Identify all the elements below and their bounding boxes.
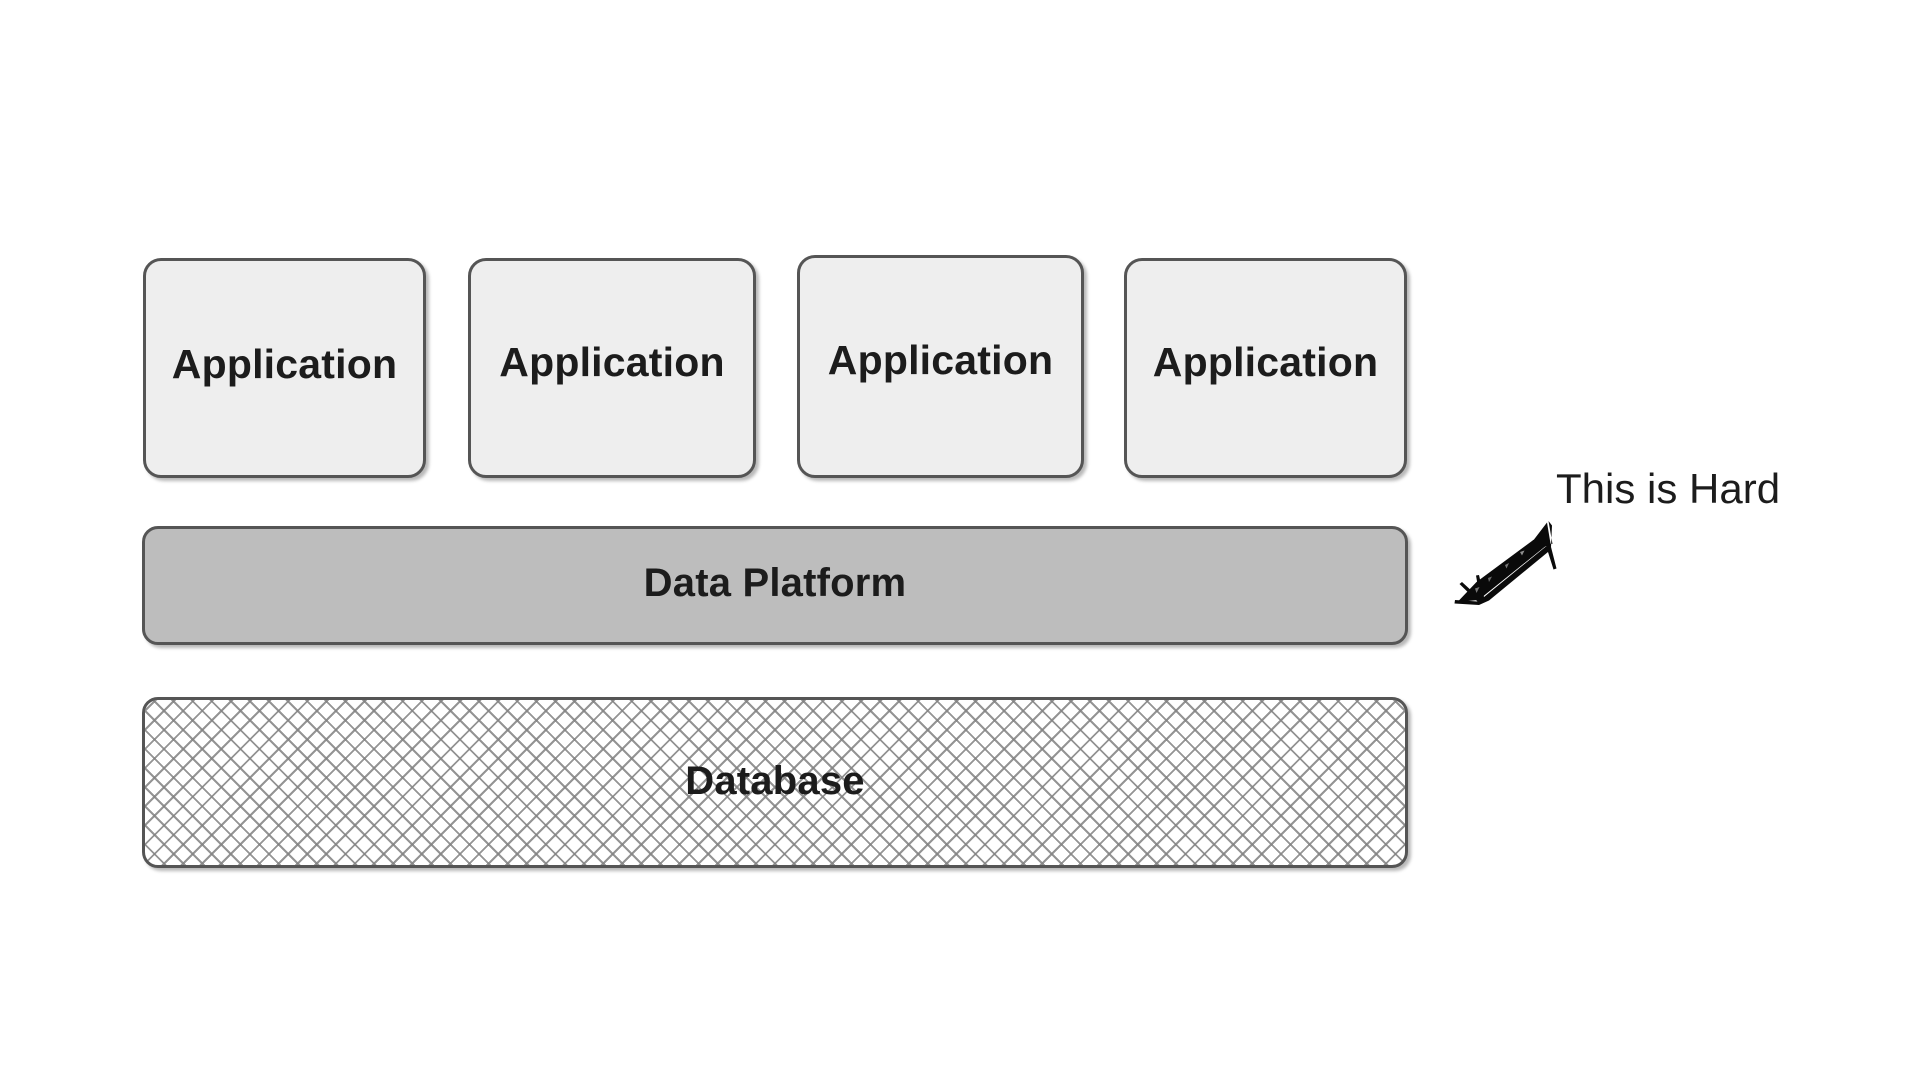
application-box-4-label: Application <box>1153 342 1378 383</box>
application-box-4[interactable]: Application <box>1124 258 1407 478</box>
annotation-label: This is Hard <box>1556 466 1780 512</box>
diagram-canvas: Application Application Application Appl… <box>0 0 1920 1080</box>
application-box-2[interactable]: Application <box>468 258 756 478</box>
data-platform-label: Data Platform <box>644 563 907 603</box>
application-box-1[interactable]: Application <box>143 258 426 478</box>
arrow-down-left-icon <box>1448 516 1558 620</box>
application-box-1-label: Application <box>172 344 397 385</box>
application-box-2-label: Application <box>499 342 724 383</box>
application-box-3[interactable]: Application <box>797 255 1084 478</box>
application-box-3-label: Application <box>828 340 1053 381</box>
database-label: Database <box>685 761 864 801</box>
database-bar[interactable]: Database <box>142 697 1408 868</box>
data-platform-bar[interactable]: Data Platform <box>142 526 1408 645</box>
